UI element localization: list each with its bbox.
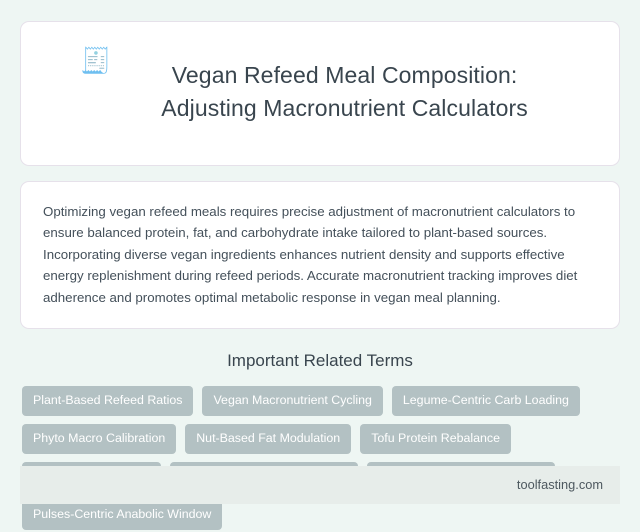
related-term-pill[interactable]: Tofu Protein Rebalance [360, 424, 511, 454]
description-paragraph: Optimizing vegan refeed meals requires p… [43, 201, 597, 309]
related-term-pill[interactable]: Pulses-Centric Anabolic Window [22, 500, 222, 530]
footer-bar: toolfasting.com [20, 466, 620, 504]
related-term-pill[interactable]: Nut-Based Fat Modulation [185, 424, 351, 454]
related-term-pill[interactable]: Vegan Macronutrient Cycling [202, 386, 382, 416]
footer-domain-label: toolfasting.com [517, 477, 603, 493]
page-title: Vegan Refeed Meal Composition: Adjusting… [130, 59, 560, 125]
receipt-icon: 🧾 [80, 44, 111, 78]
page-root: 🧾 Vegan Refeed Meal Composition: Adjusti… [0, 21, 640, 532]
related-term-pill[interactable]: Phyto Macro Calibration [22, 424, 176, 454]
description-card: Optimizing vegan refeed meals requires p… [20, 181, 620, 330]
related-term-pill[interactable]: Plant-Based Refeed Ratios [22, 386, 193, 416]
title-card: 🧾 Vegan Refeed Meal Composition: Adjusti… [20, 21, 620, 166]
related-terms-list: Plant-Based Refeed RatiosVegan Macronutr… [20, 386, 620, 530]
related-terms-heading: Important Related Terms [20, 350, 620, 372]
related-term-pill[interactable]: Legume-Centric Carb Loading [392, 386, 580, 416]
title-row: 🧾 Vegan Refeed Meal Composition: Adjusti… [51, 44, 589, 141]
